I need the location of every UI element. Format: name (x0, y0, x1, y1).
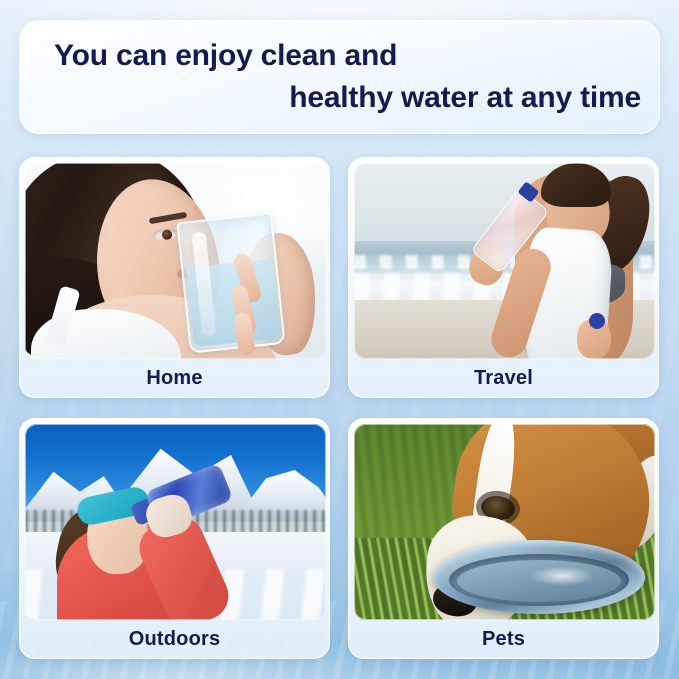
card-label-travel: Travel (354, 359, 653, 397)
card-row-top: Home (19, 157, 660, 398)
product-feature-infographic: You can enjoy clean and healthy water at… (0, 0, 679, 679)
use-case-card-outdoors[interactable]: Outdoors (19, 418, 330, 659)
photo-home-drinking-glass (25, 163, 326, 359)
use-case-card-pets[interactable]: Pets (348, 418, 659, 659)
card-label-home: Home (25, 359, 324, 397)
card-label-pets: Pets (354, 620, 653, 658)
headline-banner: You can enjoy clean and healthy water at… (19, 20, 660, 134)
photo-pets-dog-bowl (354, 424, 655, 620)
use-case-card-travel[interactable]: Travel (348, 157, 659, 398)
card-row-bottom: Outdoors (19, 418, 660, 659)
photo-outdoors-snow-bottle (25, 424, 326, 620)
photo-travel-beach-bottle (354, 163, 655, 359)
card-label-outdoors: Outdoors (25, 620, 324, 658)
headline-line-1: You can enjoy clean and (20, 35, 659, 77)
headline-line-2: healthy water at any time (20, 77, 659, 119)
use-case-card-home[interactable]: Home (19, 157, 330, 398)
use-case-card-grid: Home (19, 157, 660, 659)
